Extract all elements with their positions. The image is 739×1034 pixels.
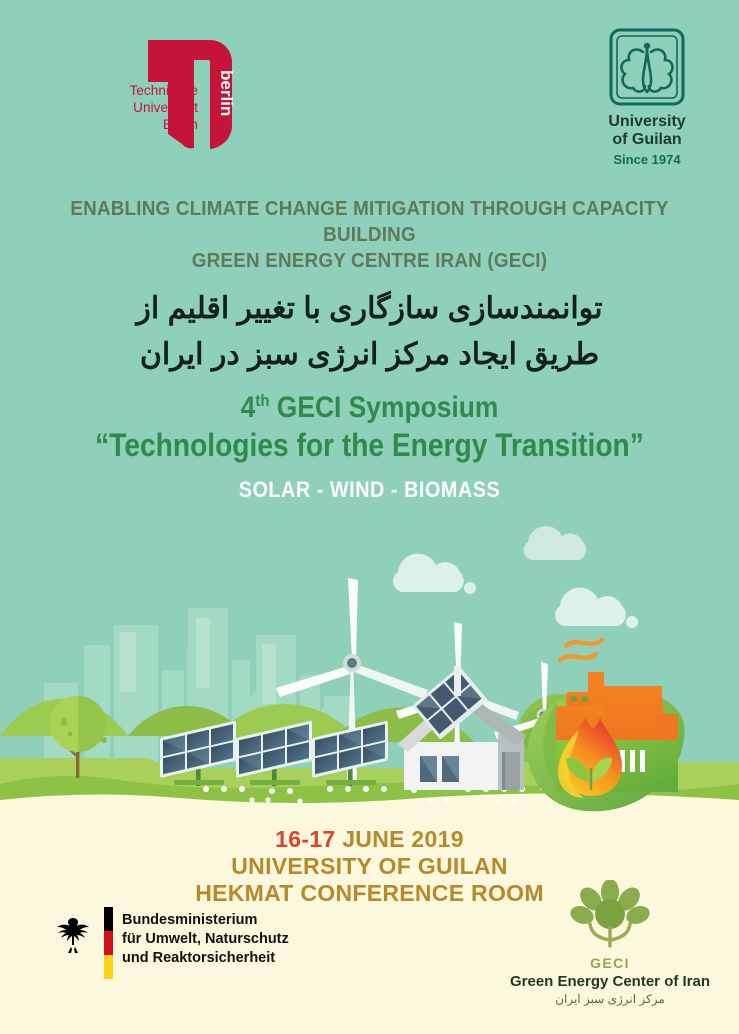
ministry-line-1: Bundesministerium bbox=[122, 911, 289, 930]
tu-line-3: Berlin bbox=[78, 116, 198, 133]
kicker-line-1: ENABLING CLIMATE CHANGE MITIGATION THROU… bbox=[30, 196, 710, 248]
ministry-name: Bundesministerium für Umwelt, Naturschut… bbox=[122, 911, 289, 968]
ministry-line-3: und Reaktorsicherheit bbox=[122, 949, 289, 968]
guilan-name: University of Guilan bbox=[572, 113, 722, 149]
symposium-title: 4th GECI Symposium bbox=[44, 384, 694, 425]
event-date-days: 16-17 bbox=[275, 826, 335, 852]
guilan-line-2: of Guilan bbox=[572, 131, 722, 149]
logo-row: berlin Technische Universität Berlin bbox=[0, 0, 739, 180]
geci-abbr: GECI bbox=[500, 955, 720, 971]
tu-berlin-wordmark: Technische Universität Berlin bbox=[78, 82, 198, 133]
event-venue: UNIVERSITY OF GUILAN bbox=[0, 853, 739, 880]
persian-title-line-2: طریق ایجاد مرکز انرژی سبز در ایران bbox=[0, 332, 739, 378]
guilan-since: Since 1974 bbox=[572, 152, 722, 167]
geci-name-en: Green Energy Center of Iran bbox=[500, 973, 720, 990]
flag-stripe-black bbox=[104, 907, 113, 931]
kicker-line-2: GREEN ENERGY CENTRE IRAN (GECI) bbox=[30, 248, 710, 274]
geci-logo: GECI Green Energy Center of Iran مرکز ان… bbox=[500, 880, 720, 1006]
ministry-line-2: für Umwelt, Naturschutz bbox=[122, 930, 289, 949]
geci-name-fa: مرکز انرژی سبز ایران bbox=[500, 992, 720, 1006]
symposium-rest: GECI Symposium bbox=[269, 391, 498, 424]
factory-windows bbox=[620, 750, 645, 772]
guilan-crest-icon bbox=[607, 26, 687, 108]
german-flag-bar bbox=[104, 907, 113, 979]
university-of-guilan-logo: University of Guilan Since 1974 bbox=[572, 26, 722, 166]
renewable-energy-scene bbox=[0, 500, 739, 820]
tu-berlin-logo: berlin Technische Universität Berlin bbox=[78, 30, 298, 160]
german-federal-ministry-logo: Bundesministerium für Umwelt, Naturschut… bbox=[52, 905, 302, 985]
tu-line-1: Technische bbox=[78, 82, 198, 99]
symposium-ordinal: th bbox=[255, 391, 269, 410]
guilan-line-1: University bbox=[572, 113, 722, 131]
symposium-number: 4 bbox=[241, 391, 256, 424]
headline-block: ENABLING CLIMATE CHANGE MITIGATION THROU… bbox=[0, 196, 739, 503]
flag-stripe-gold bbox=[104, 955, 113, 979]
symposium-theme: “Technologies for the Energy Transition” bbox=[44, 425, 694, 465]
flag-stripe-red bbox=[104, 931, 113, 955]
persian-title-line-1: توانمندسازی سازگاری با تغییر اقلیم از bbox=[0, 286, 739, 332]
event-date: 16-17 JUNE 2019 bbox=[0, 826, 739, 853]
tu-line-2: Universität bbox=[78, 99, 198, 116]
poster: berlin Technische Universität Berlin bbox=[0, 0, 739, 1034]
tu-berlin-mark-text: berlin bbox=[217, 70, 236, 116]
federal-eagle-icon bbox=[52, 913, 94, 957]
event-date-month: JUNE 2019 bbox=[336, 826, 464, 852]
geci-flower-icon bbox=[567, 880, 653, 954]
